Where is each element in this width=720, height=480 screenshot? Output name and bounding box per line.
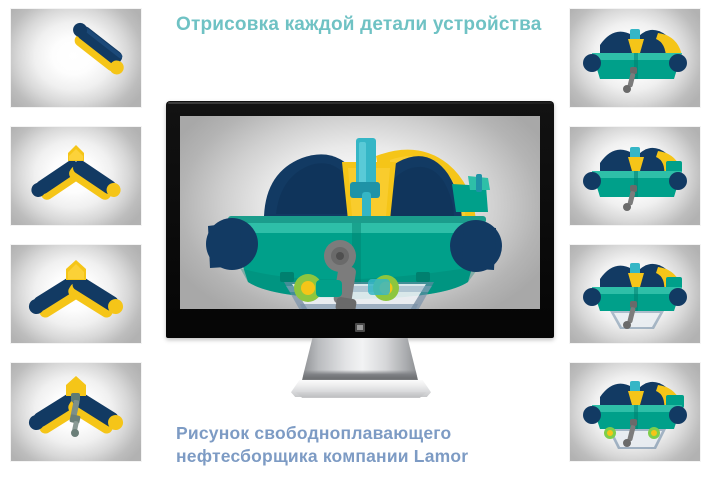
skimmer-hull-icon [570,9,700,107]
boom-with-hook-icon [11,363,141,461]
monitor-stand-base-edge [291,392,431,398]
poster-stage: Отрисовка каждой детали устройства [0,0,720,480]
thumbnail-skimmer-hull[interactable] [570,9,700,107]
thumbnail-skimmer-keel[interactable] [570,245,700,343]
thumbnail-boom-single-arm[interactable] [11,9,141,107]
caption-top: Отрисовка каждой детали устройства [176,12,548,37]
thumbnail-boom-pair-joined[interactable] [11,245,141,343]
thumbnail-skimmer-frame[interactable] [570,127,700,225]
skimmer-keel-icon [570,245,700,343]
thumbnail-skimmer-complete[interactable] [570,363,700,461]
monitor-bezel [166,101,554,338]
thumbnail-boom-with-hook[interactable] [11,363,141,461]
thumbnail-boom-pair-open[interactable] [11,127,141,225]
skimmer-render-illustration [180,116,540,309]
boom-single-arm-icon [11,9,141,107]
boom-pair-open-icon [11,127,141,225]
boom-pair-joined-icon [11,245,141,343]
monitor-screen[interactable] [180,116,540,309]
caption-bottom: Рисунок свободноплавающего нефтесборщика… [176,422,556,468]
skimmer-frame-icon [570,127,700,225]
bezel-highlight [168,102,552,104]
monitor-brand-logo [355,323,365,332]
skimmer-complete-icon [570,363,700,461]
desktop-monitor [166,101,554,338]
